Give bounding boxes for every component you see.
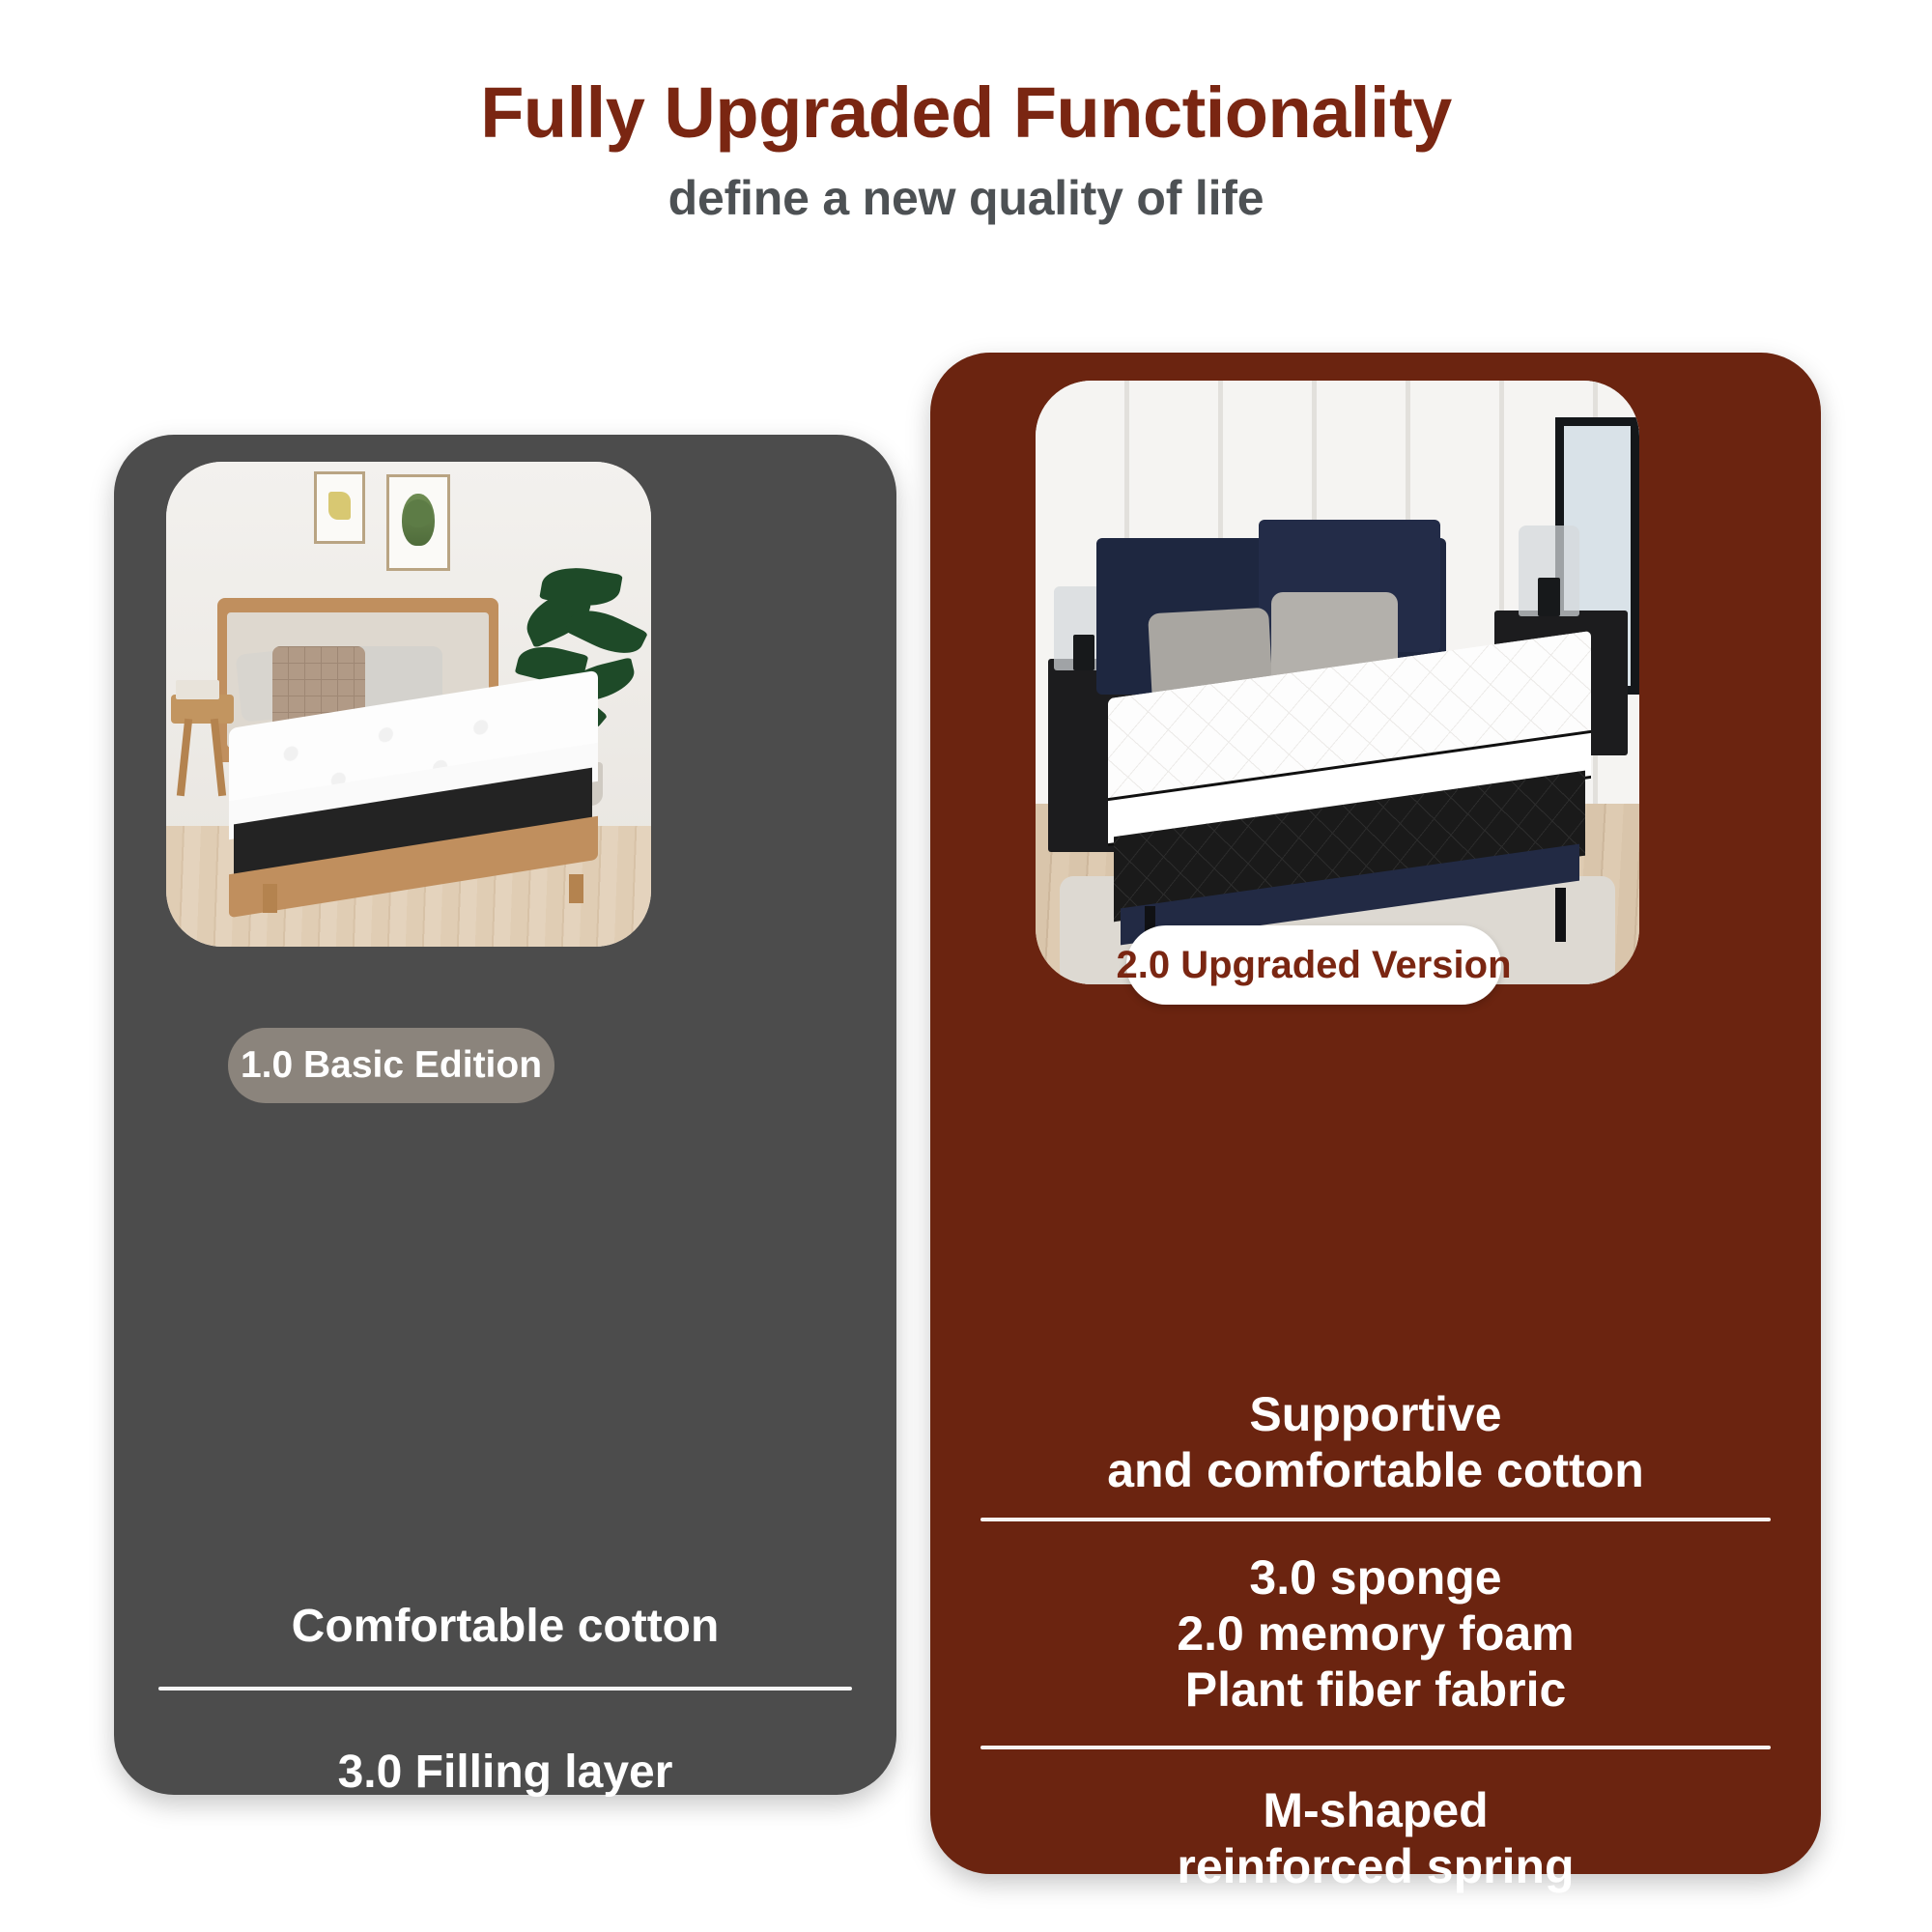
page-subtitle: define a new quality of life [0,172,1932,225]
feature-item: 3.0 sponge 2.0 memory foam Plant fiber f… [980,1533,1771,1734]
divider [980,1746,1771,1749]
feature-list-basic: Comfortable cotton 3.0 Filling layer Rei… [114,1577,896,1932]
feature-item: 3.0 Filling layer [158,1700,852,1845]
card-upgraded-version[interactable]: 2.0 Upgraded Version Supportive and comf… [930,353,1821,1874]
divider [980,1927,1771,1931]
header: Fully Upgraded Functionality define a ne… [0,75,1932,225]
feature-item: M-shaped reinforced spring [980,1761,1771,1916]
page-title: Fully Upgraded Functionality [0,75,1932,151]
divider [980,1518,1771,1521]
feature-item: Comfortable cotton [158,1577,852,1677]
infographic-canvas: Fully Upgraded Functionality define a ne… [0,0,1932,1932]
feature-item: Reinforce spring [158,1868,852,1932]
badge-upgraded-version: 2.0 Upgraded Version [1126,925,1501,1005]
bedroom-upgraded-mattress-photo [1036,381,1639,984]
feature-item: Supportive and comfortable cotton [980,1378,1771,1506]
divider [158,1855,852,1859]
badge-basic-edition: 1.0 Basic Edition [228,1028,554,1103]
bedroom-basic-mattress-photo [166,462,651,947]
feature-list-upgraded: Supportive and comfortable cotton 3.0 sp… [930,1378,1821,1932]
divider [158,1687,852,1690]
card-basic-edition[interactable]: Comfortable cotton 3.0 Filling layer Rei… [114,435,896,1795]
